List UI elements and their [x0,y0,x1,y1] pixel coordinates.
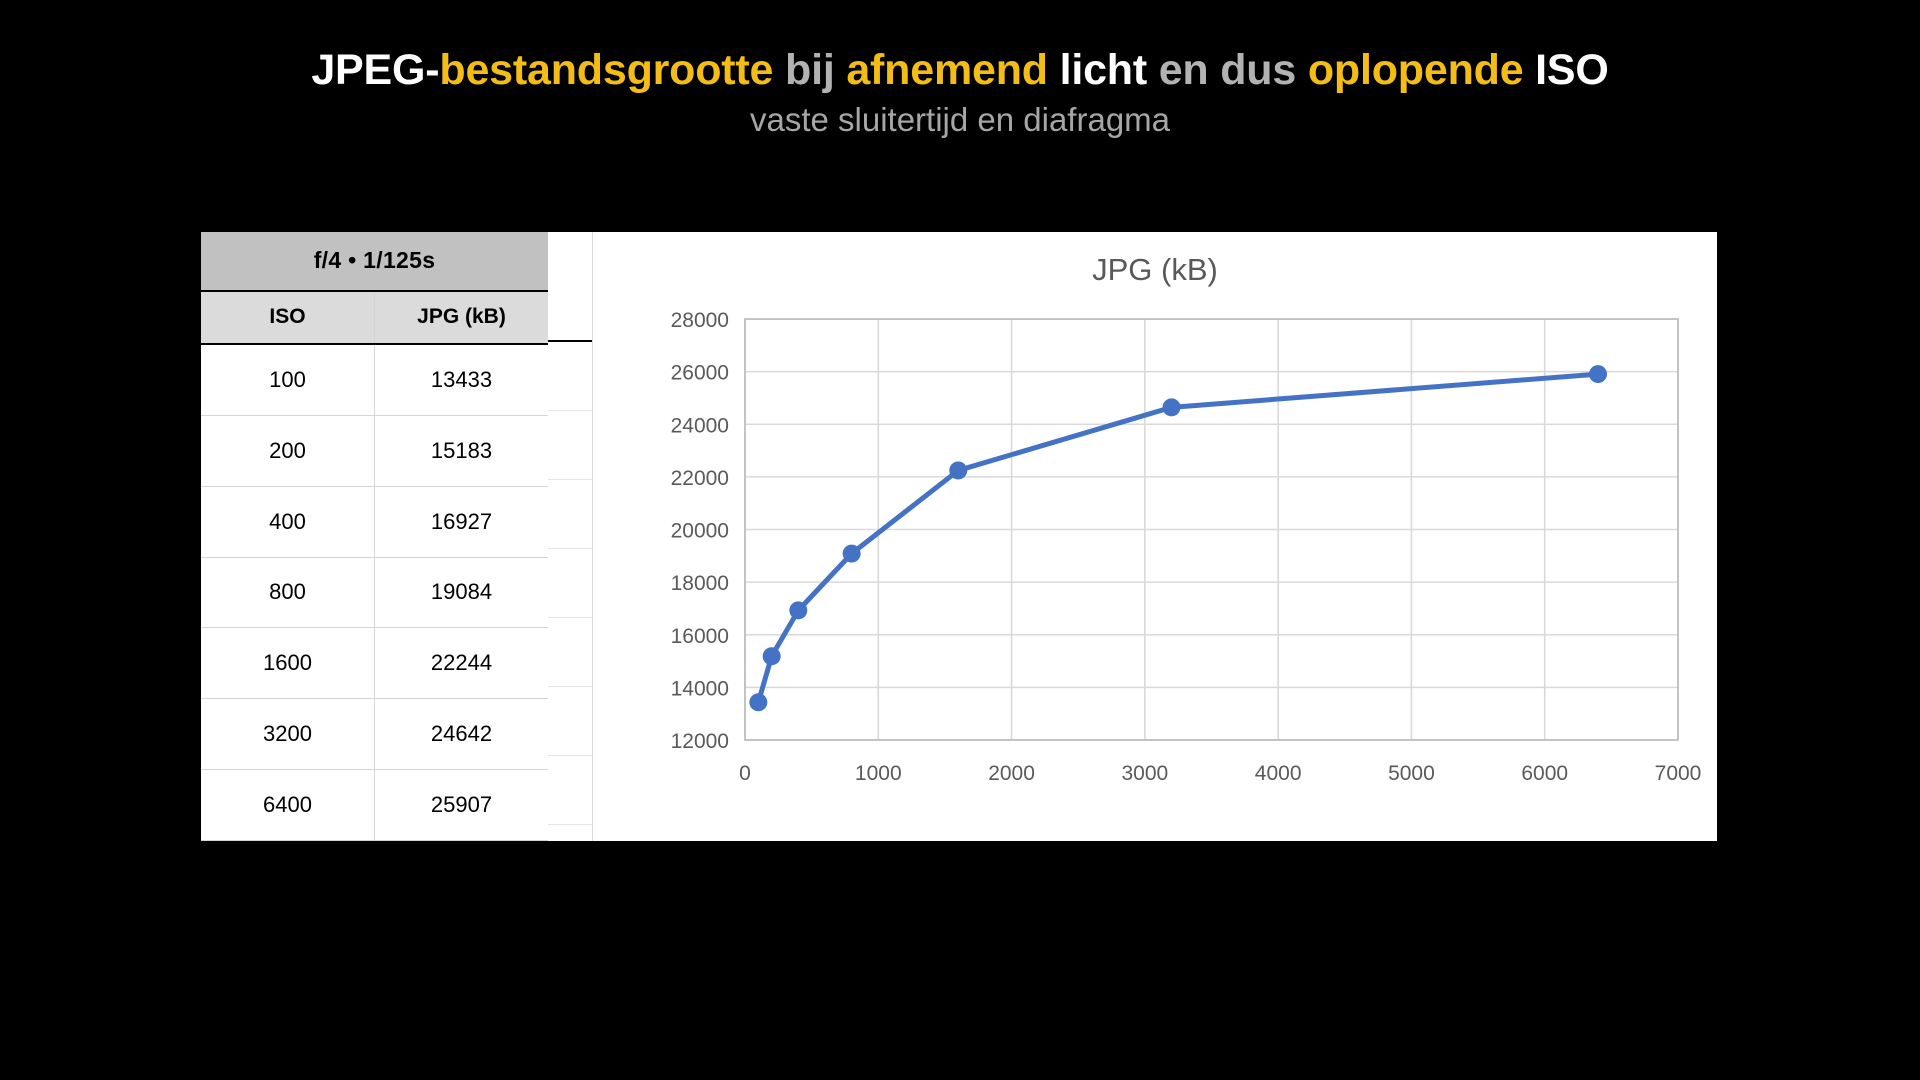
table-span-header-row: f/4 • 1/125s [201,232,548,291]
spacer-row [548,411,592,480]
cell-iso: 1600 [201,628,375,699]
y-tick-label: 28000 [671,309,729,332]
cell-iso: 6400 [201,770,375,841]
table-row: 3200 24642 [201,699,548,770]
x-tick-label: 3000 [1121,762,1168,785]
spacer-row [548,549,592,618]
content-panel: f/4 • 1/125s ISO JPG (kB) 100 13433 200 … [201,232,1717,841]
table-row: 800 19084 [201,557,548,628]
data-point-marker [1163,398,1181,416]
title-segment-en-dus: en dus [1147,46,1308,94]
cell-jpg: 16927 [375,486,549,557]
page-subtitle: vaste sluitertijd en diafragma [0,100,1920,140]
cell-jpg: 24642 [375,699,549,770]
title-segment-afnemend: afnemend [846,46,1048,94]
data-point-marker [763,647,781,665]
table-span-header-cell: f/4 • 1/125s [201,232,548,291]
cell-iso: 200 [201,415,375,486]
table-column-header-row: ISO JPG (kB) [201,291,548,344]
table-header-iso: ISO [201,291,375,344]
y-tick-label: 24000 [671,414,729,437]
x-tick-label: 6000 [1521,762,1568,785]
spacer-row [548,342,592,411]
page-title: JPEG-bestandsgrootte bij afnemend licht … [0,46,1920,94]
data-point-marker [843,545,861,563]
y-tick-label: 26000 [671,362,729,385]
table-row: 100 13433 [201,344,548,415]
y-tick-label: 22000 [671,467,729,490]
title-segment-bij: bij [773,46,846,94]
x-tick-label: 1000 [855,762,902,785]
x-tick-label: 4000 [1255,762,1302,785]
data-point-marker [789,601,807,619]
iso-filesize-table: f/4 • 1/125s ISO JPG (kB) 100 13433 200 … [201,232,548,841]
cell-iso: 100 [201,344,375,415]
title-segment-oplopende: oplopende [1308,46,1524,94]
cell-iso: 800 [201,557,375,628]
title-segment-bestandsgrootte: bestandsgrootte [439,46,773,94]
title-segment-iso: ISO [1523,46,1608,94]
x-tick-label: 7000 [1655,762,1702,785]
y-tick-label: 14000 [671,677,729,700]
cell-iso: 400 [201,486,375,557]
table-row: 6400 25907 [201,770,548,841]
cell-jpg: 13433 [375,344,549,415]
table-spacer-column [548,232,593,841]
spacer-row [548,480,592,549]
chart-canvas: 1200014000160001800020000220002400026000… [593,232,1717,841]
title-segment-jpeg: JPEG- [311,46,439,94]
table-header-jpg: JPG (kB) [375,291,549,344]
y-tick-label: 20000 [671,520,729,543]
y-tick-label: 18000 [671,572,729,595]
x-tick-label: 2000 [988,762,1035,785]
title-block: JPEG-bestandsgrootte bij afnemend licht … [0,46,1920,140]
y-tick-label: 16000 [671,625,729,648]
table-row: 200 15183 [201,415,548,486]
x-tick-label: 0 [739,762,751,785]
table-row: 400 16927 [201,486,548,557]
spacer-row [548,756,592,825]
data-point-marker [1589,365,1607,383]
series-line [758,374,1598,702]
data-point-marker [949,461,967,479]
cell-jpg: 19084 [375,557,549,628]
y-tick-label: 12000 [671,730,729,753]
cell-jpg: 22244 [375,628,549,699]
spacer-header [548,232,592,342]
jpg-size-chart: JPG (kB) 1200014000160001800020000220002… [593,232,1717,841]
cell-jpg: 25907 [375,770,549,841]
cell-iso: 3200 [201,699,375,770]
spacer-row [548,618,592,687]
spacer-row [548,687,592,756]
title-segment-licht: licht [1048,46,1147,94]
cell-jpg: 15183 [375,415,549,486]
x-tick-label: 5000 [1388,762,1435,785]
data-point-marker [749,693,767,711]
table-row: 1600 22244 [201,628,548,699]
